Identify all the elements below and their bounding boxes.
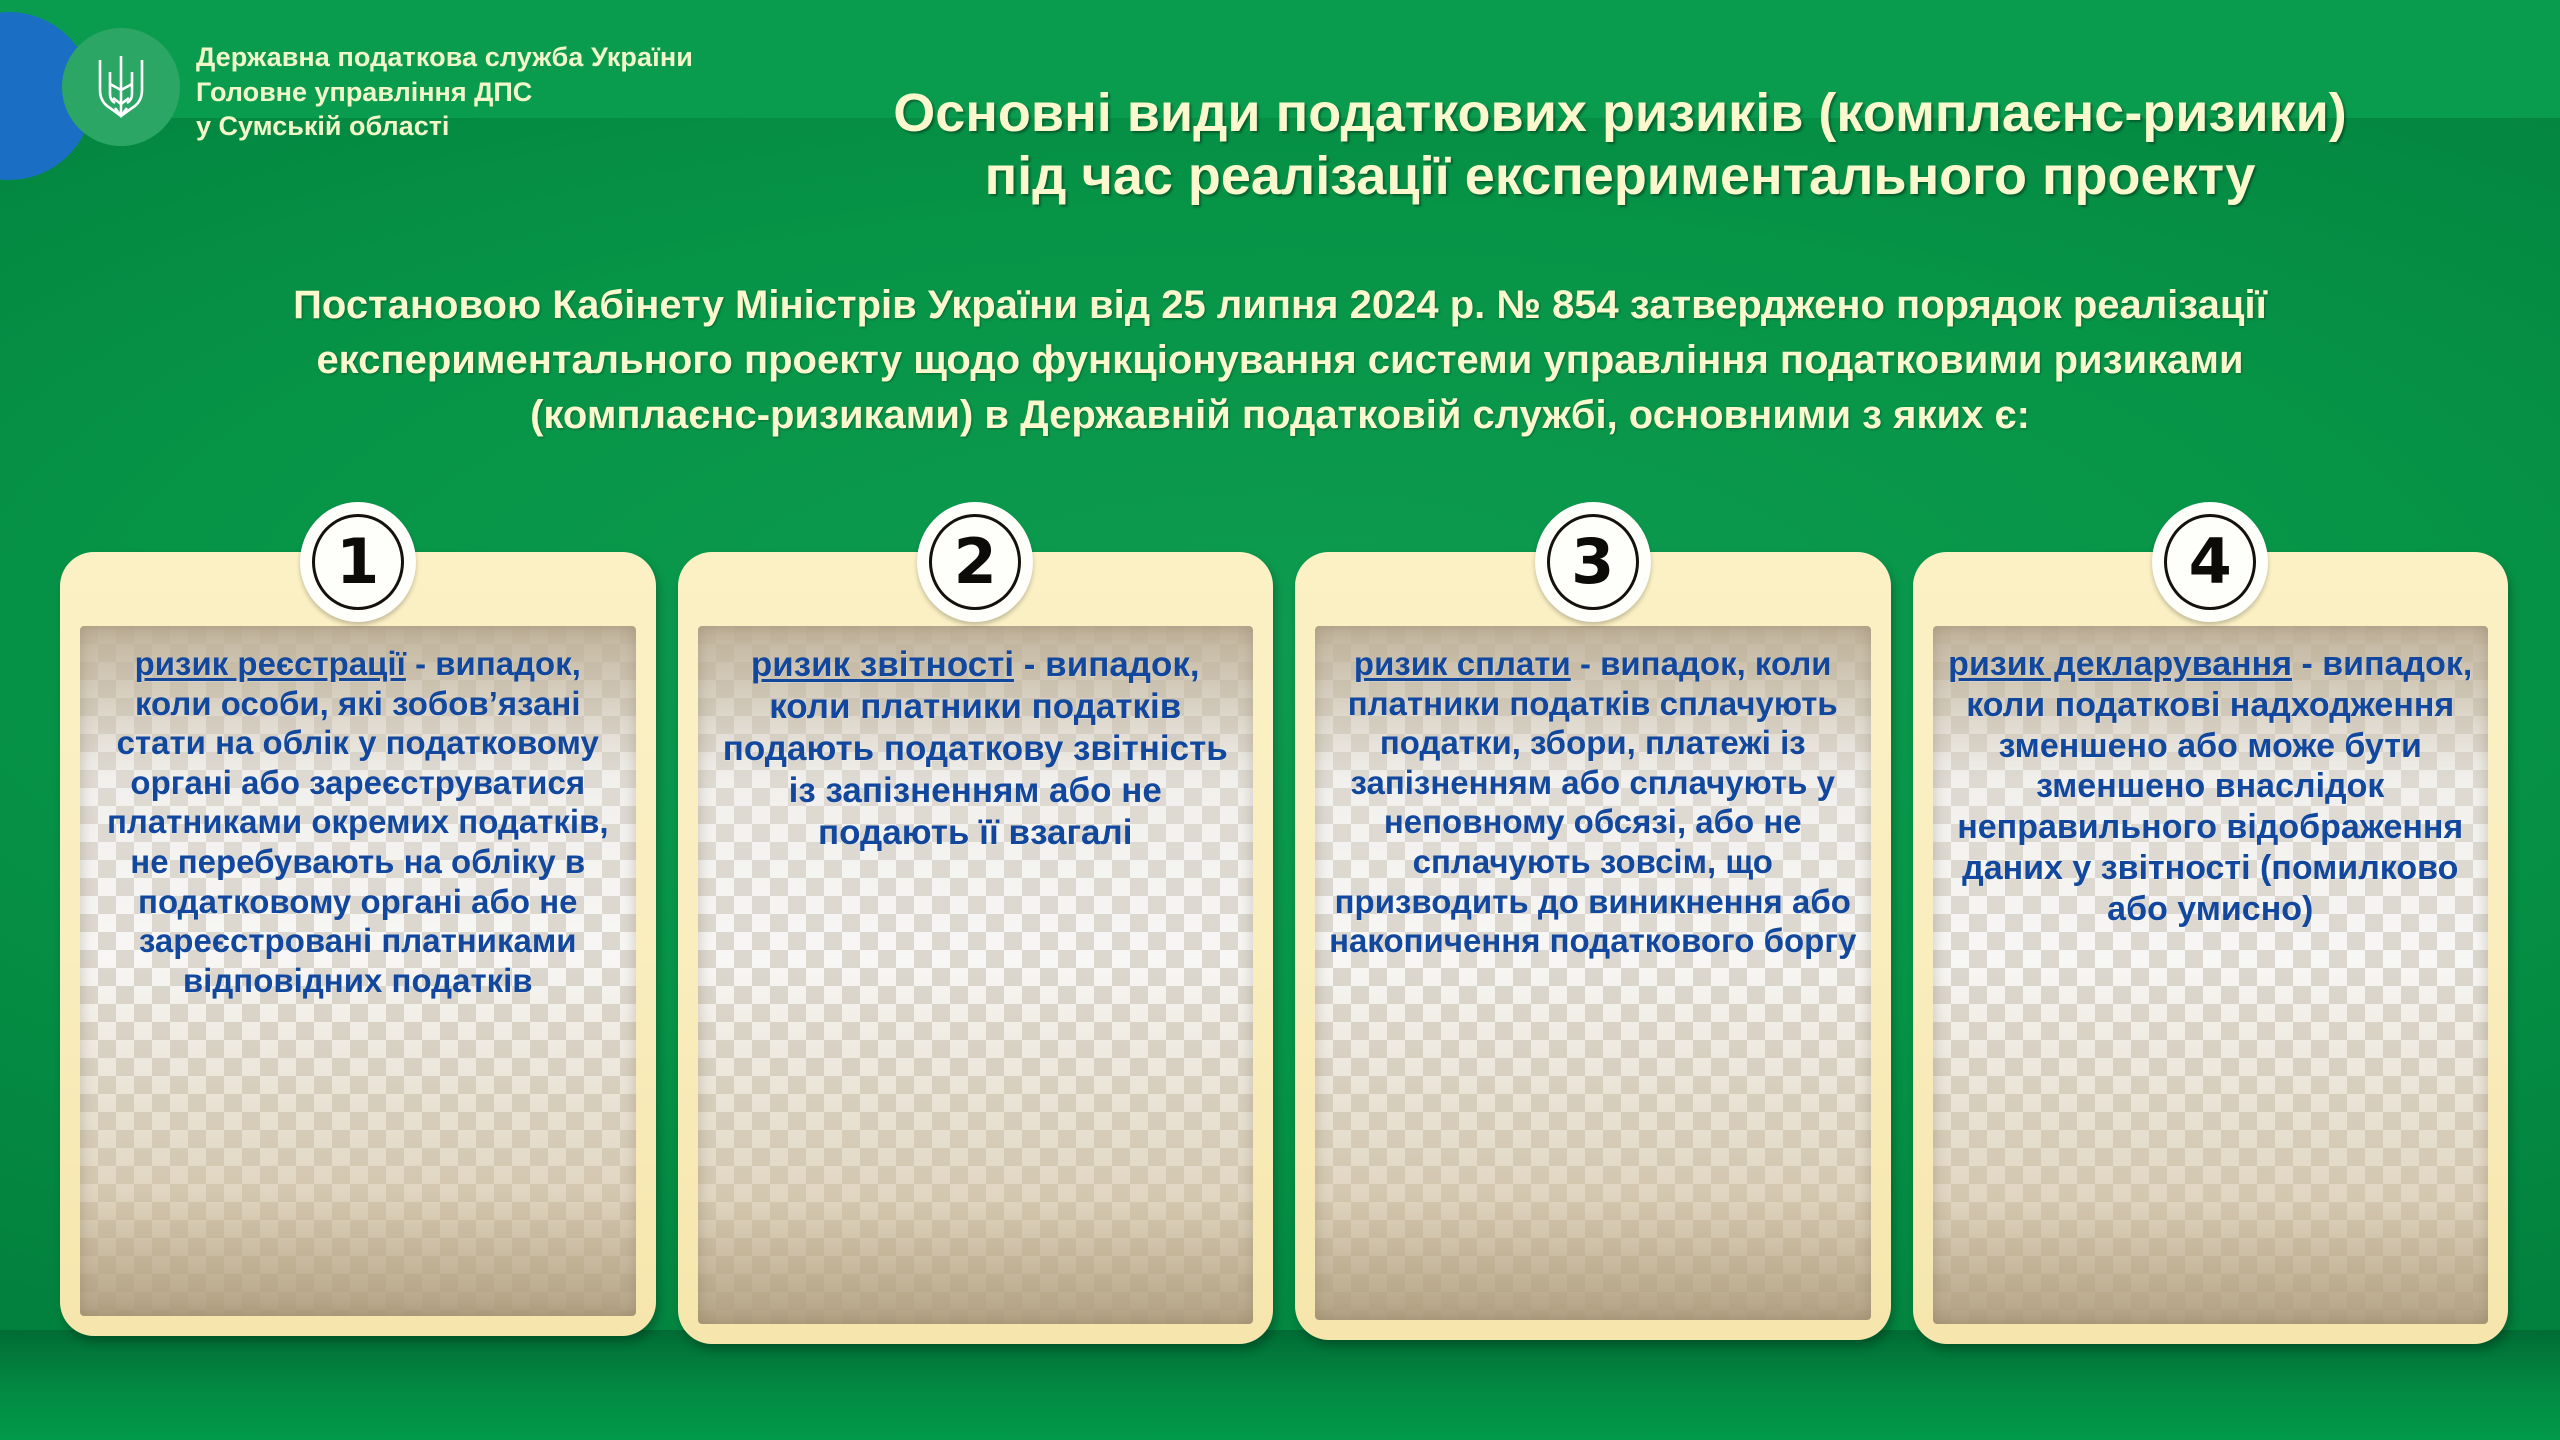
card-inner-panel: ризик реєстрації - випадок, коли особи, … [80,626,636,1316]
risk-cards-row: ризик реєстрації - випадок, коли особи, … [60,540,2508,1370]
card-term: ризик реєстрації [135,645,406,682]
card-term: ризик декларування [1948,645,2292,683]
risk-card-4: ризик декларування - випадок, коли подат… [1913,540,2509,1370]
risk-card-3: ризик сплати - випадок, коли платники по… [1295,540,1891,1370]
card-shell: ризик реєстрації - випадок, коли особи, … [60,552,656,1336]
page-title-line-1: Основні види податкових ризиків (комплає… [690,82,2550,145]
card-text: ризик сплати - випадок, коли платники по… [1327,644,1859,961]
card-term: ризик звітності [751,645,1014,684]
badge-ring: 3 [1547,514,1639,610]
badge-ring: 4 [2164,514,2256,610]
card-body: випадок, коли податкові надходження змен… [1957,645,2472,928]
badge-number: 2 [954,531,997,593]
card-text: ризик звітності - випадок, коли платники… [710,644,1242,854]
card-dash: - [1014,645,1045,684]
card-body: випадок, коли особи, які зобов’язані ста… [107,645,609,999]
card-inner-panel: ризик сплати - випадок, коли платники по… [1315,626,1871,1320]
badge-ring: 2 [929,514,1021,610]
intro-paragraph: Постановою Кабінету Міністрів України ві… [40,278,2520,444]
risk-card-1: ризик реєстрації - випадок, коли особи, … [60,540,656,1370]
logo-circle [62,28,180,146]
badge-number: 4 [2189,531,2232,593]
organization-name: Державна податкова служба України Головн… [196,40,693,144]
card-number-badge: 4 [2152,502,2268,622]
card-shell: ризик звітності - випадок, коли платники… [678,552,1274,1344]
badge-ring: 1 [312,514,404,610]
intro-line-2: експериментального проекту щодо функціон… [40,333,2520,388]
card-term: ризик сплати [1354,645,1571,682]
page-title-line-2: під час реалізації експериментального пр… [690,145,2550,208]
org-line-1: Державна податкова служба України [196,40,693,75]
card-text: ризик реєстрації - випадок, коли особи, … [92,644,624,1000]
card-shell: ризик декларування - випадок, коли подат… [1913,552,2509,1344]
card-number-badge: 2 [917,502,1033,622]
page-title: Основні види податкових ризиків (комплає… [690,82,2550,207]
org-line-2: Головне управління ДПС [196,75,693,110]
card-number-badge: 1 [300,502,416,622]
org-line-3: у Сумській області [196,109,693,144]
card-dash: - [406,645,435,682]
card-body: випадок, коли платники податків сплачуют… [1329,645,1856,959]
badge-number: 3 [1571,531,1614,593]
risk-card-2: ризик звітності - випадок, коли платники… [678,540,1274,1370]
card-shell: ризик сплати - випадок, коли платники по… [1295,552,1891,1340]
intro-line-3: (комплаєнс-ризиками) в Державній податко… [40,388,2520,443]
card-inner-panel: ризик декларування - випадок, коли подат… [1933,626,2489,1324]
card-inner-panel: ризик звітності - випадок, коли платники… [698,626,1254,1324]
card-text: ризик декларування - випадок, коли подат… [1945,644,2477,930]
card-number-badge: 3 [1535,502,1651,622]
card-dash: - [2292,645,2322,683]
ukrainian-trident-emblem-icon [91,50,151,124]
card-dash: - [1571,645,1600,682]
badge-number: 1 [336,531,379,593]
intro-line-1: Постановою Кабінету Міністрів України ві… [40,278,2520,333]
